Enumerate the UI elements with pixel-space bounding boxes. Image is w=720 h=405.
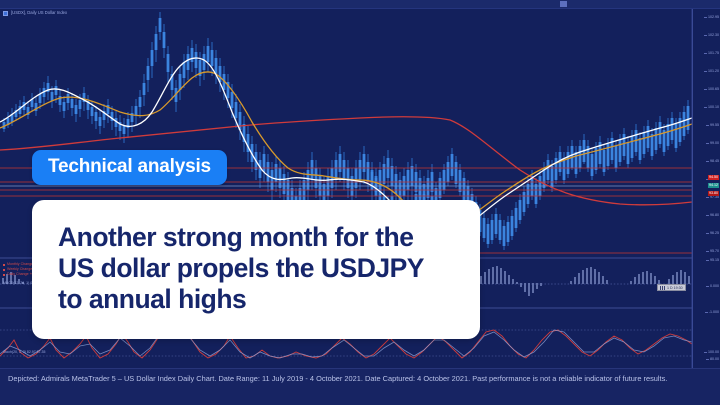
- price-tick: 98.45: [710, 159, 719, 163]
- screenshot-root: [USDX], Daily US Dollar Index Monthly Ch…: [0, 0, 720, 405]
- disclaimer-text: Depicted: Admirals MetaTrader 5 – US Dol…: [8, 374, 708, 385]
- price-tick: 96.25: [710, 231, 719, 235]
- stoch-axis-tick: 100.00: [708, 350, 719, 354]
- stoch-axis-tick: 80.00: [710, 357, 719, 361]
- symbol-label: [USDX], Daily US Dollar Index: [3, 10, 67, 16]
- price-tick: 99.55: [710, 123, 719, 127]
- chart-toolbar[interactable]: [0, 0, 720, 9]
- footer-disclaimer-bar: Depicted: Admirals MetaTrader 5 – US Dol…: [0, 368, 720, 405]
- price-tick: 96.80: [710, 213, 719, 217]
- macd-axis-tick: -1.000: [709, 310, 719, 314]
- price-tick: 101.75: [708, 51, 719, 55]
- legend-bullet-icon: [3, 264, 5, 266]
- chart-value-tag[interactable]: 1 D 19:30: [657, 284, 686, 291]
- macd-axis-tick: 0.000: [710, 284, 719, 288]
- price-tick: 101.20: [708, 69, 719, 73]
- price-highlight-box: 93.80: [708, 191, 719, 196]
- symbol-label-text: [USDX], Daily US Dollar Index: [11, 10, 67, 16]
- chart-value-tag-text: 1 D 19:30: [667, 286, 683, 290]
- histogram-icon: [660, 286, 665, 290]
- legend-bullet-icon: [3, 274, 5, 276]
- price-tick: 102.30: [708, 33, 719, 37]
- price-tick: 95.15: [710, 258, 719, 262]
- legend-bullet-icon: [3, 269, 5, 271]
- symbol-color-swatch-icon: [3, 11, 8, 16]
- page-title: Another strong month for the US dollar p…: [58, 222, 454, 315]
- price-tick: 100.10: [708, 105, 719, 109]
- price-tick: 99.00: [710, 141, 719, 145]
- price-tick: 100.65: [708, 87, 719, 91]
- price-tick: 95.70: [710, 249, 719, 253]
- category-badge: Technical analysis: [32, 150, 227, 185]
- headline-card: Another strong month for the US dollar p…: [32, 200, 480, 339]
- price-highlight-box: 94.12: [708, 183, 719, 188]
- price-axis[interactable]: 102.95 102.30 101.75 101.20 100.65 100.1…: [692, 9, 720, 368]
- toolbar-marker-icon: [560, 1, 567, 7]
- price-highlight-box: 94.50: [708, 175, 719, 180]
- price-tick: 102.95: [708, 15, 719, 19]
- stochastic-legend: Stoch(20, 3, 3) 82.97 87.35: [3, 350, 45, 355]
